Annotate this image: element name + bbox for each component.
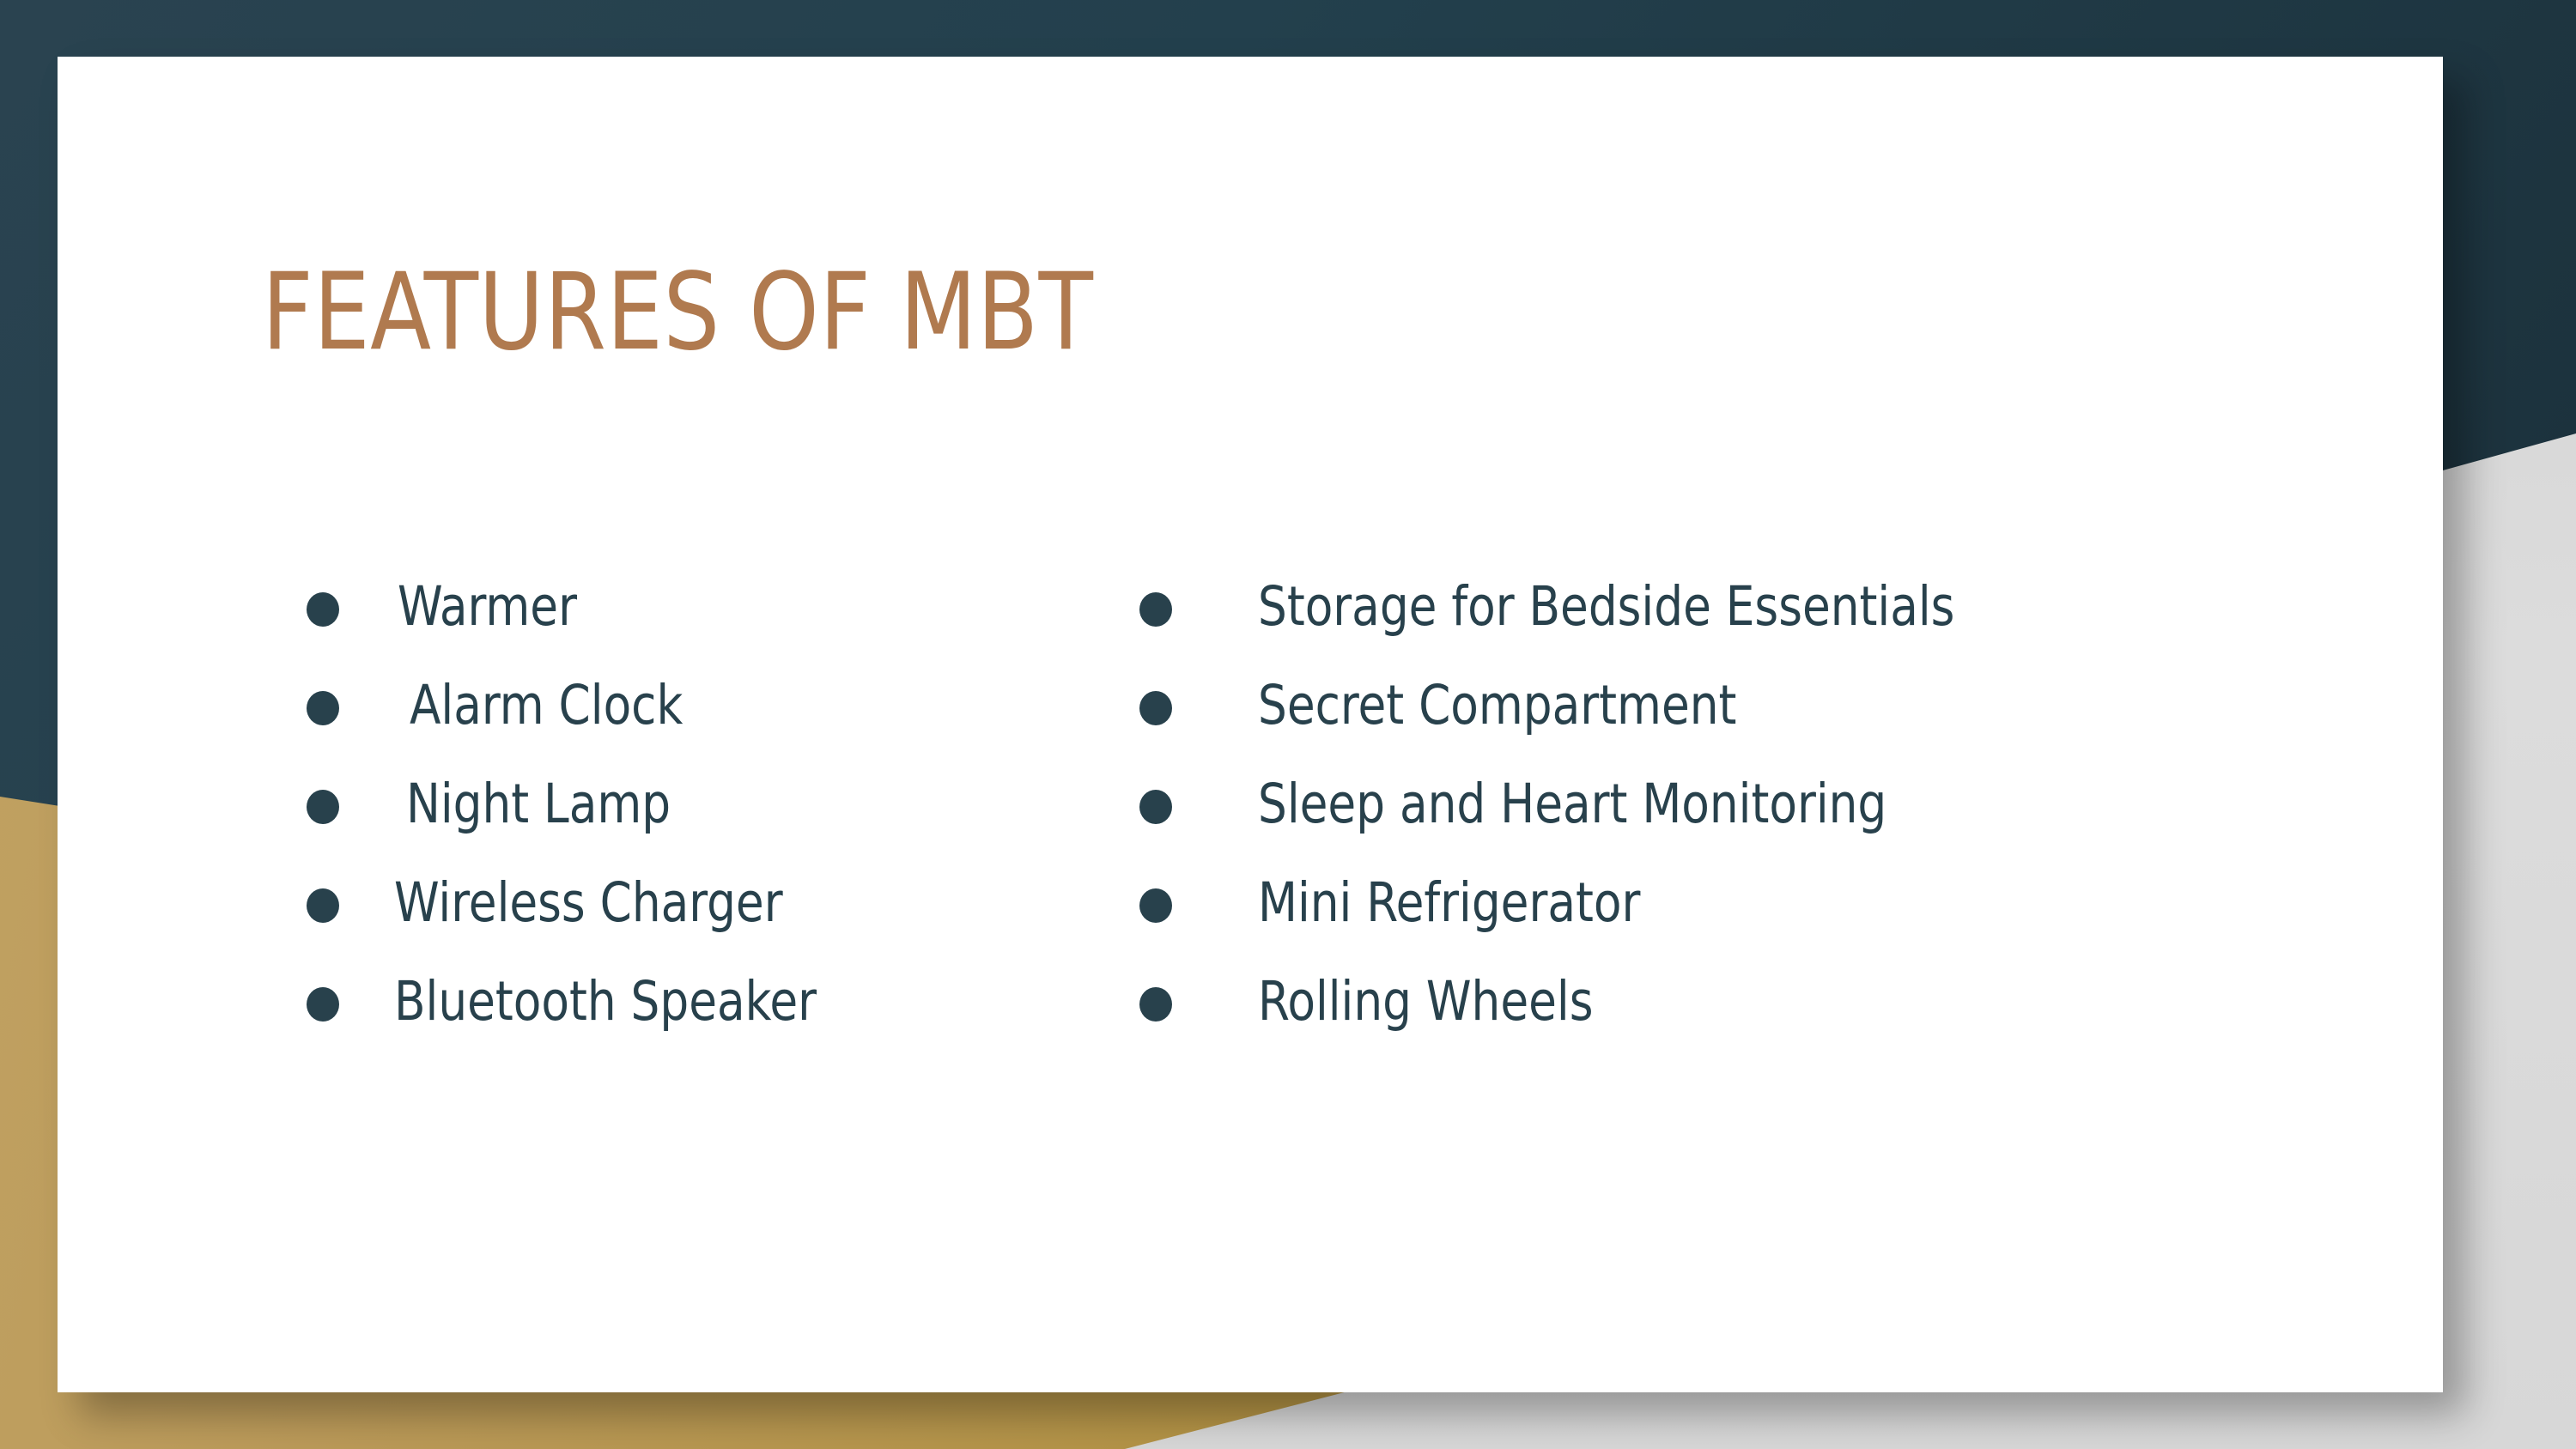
bullet-dot-icon bbox=[307, 790, 339, 824]
list-item-label: Secret Compartment bbox=[1258, 678, 1736, 732]
list-item[interactable]: Rolling Wheels bbox=[1139, 955, 1999, 1053]
bullet-dot-icon bbox=[1139, 691, 1172, 725]
list-item[interactable]: Alarm Clock bbox=[307, 658, 843, 757]
list-item[interactable]: Warmer bbox=[307, 560, 843, 658]
list-item[interactable]: Night Lamp bbox=[307, 757, 843, 856]
feature-list-left: Warmer Alarm Clock Night Lamp bbox=[307, 560, 843, 1053]
list-item-label: Alarm Clock bbox=[410, 678, 683, 732]
list-item[interactable]: Wireless Charger bbox=[307, 856, 843, 955]
list-item-label: Bluetooth Speaker bbox=[394, 974, 817, 1028]
bullet-dot-icon bbox=[307, 888, 339, 923]
list-item-label: Storage for Bedside Essentials bbox=[1258, 579, 1954, 634]
list-item[interactable]: Bluetooth Speaker bbox=[307, 955, 843, 1053]
list-item-label: Rolling Wheels bbox=[1258, 974, 1593, 1028]
bullet-dot-icon bbox=[1139, 888, 1172, 923]
list-item-label: Warmer bbox=[398, 579, 577, 634]
list-item-label: Mini Refrigerator bbox=[1258, 876, 1640, 930]
list-item-label: Sleep and Heart Monitoring bbox=[1258, 777, 1886, 831]
bullet-dot-icon bbox=[1139, 987, 1172, 1022]
feature-list-right: Storage for Bedside Essentials Secret Co… bbox=[1139, 560, 1999, 1053]
features-columns: Warmer Alarm Clock Night Lamp bbox=[58, 560, 2443, 1040]
slide-content-card: FEATURES OF MBT Warmer Alarm Clock bbox=[58, 57, 2443, 1392]
slide-title: FEATURES OF MBT bbox=[262, 259, 1093, 366]
bullet-dot-icon bbox=[307, 987, 339, 1022]
list-item[interactable]: Mini Refrigerator bbox=[1139, 856, 1999, 955]
list-item[interactable]: Sleep and Heart Monitoring bbox=[1139, 757, 1999, 856]
presentation-slide: FEATURES OF MBT Warmer Alarm Clock bbox=[0, 0, 2576, 1449]
bullet-dot-icon bbox=[1139, 592, 1172, 627]
list-item-label: Night Lamp bbox=[406, 777, 671, 831]
bullet-dot-icon bbox=[307, 592, 339, 627]
list-item[interactable]: Storage for Bedside Essentials bbox=[1139, 560, 1999, 658]
bullet-dot-icon bbox=[307, 691, 339, 725]
bullet-dot-icon bbox=[1139, 790, 1172, 824]
list-item-label: Wireless Charger bbox=[394, 876, 783, 930]
list-item[interactable]: Secret Compartment bbox=[1139, 658, 1999, 757]
